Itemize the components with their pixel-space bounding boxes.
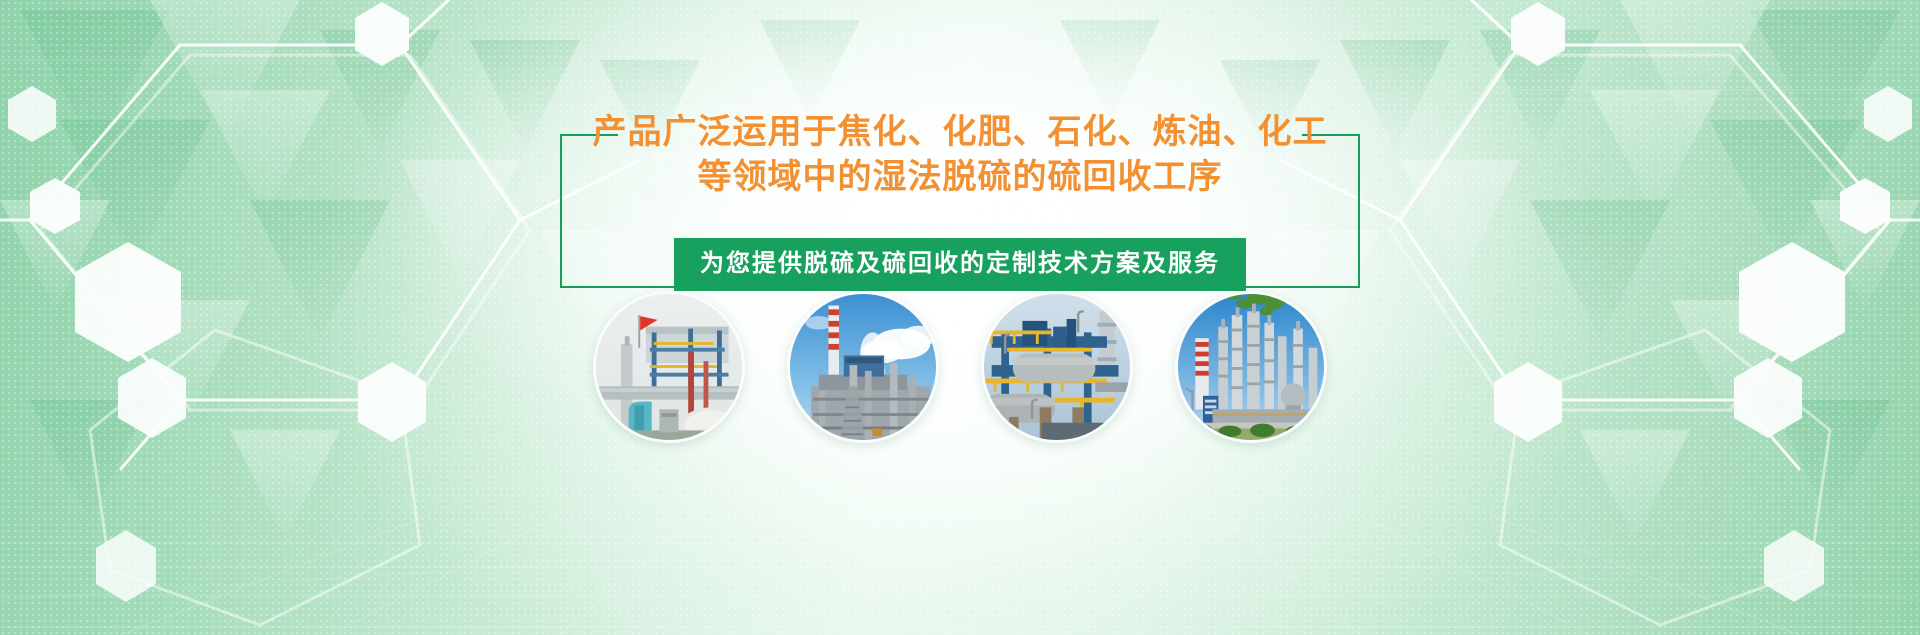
headline-line-1: 产品广泛运用于焦化、化肥、石化、炼油、化工 bbox=[560, 110, 1360, 155]
subtitle-banner: 为您提供脱硫及硫回收的定制技术方案及服务 bbox=[674, 238, 1246, 291]
photo-circle-row bbox=[0, 291, 1920, 443]
photo-sulfur-recovery-plant[interactable] bbox=[593, 291, 745, 443]
photo-distillation-columns[interactable] bbox=[1175, 291, 1327, 443]
photo-refinery-stack[interactable] bbox=[787, 291, 939, 443]
banner-content: 产品广泛运用于焦化、化肥、石化、炼油、化工 等领域中的湿法脱硫的硫回收工序 为您… bbox=[0, 0, 1920, 635]
photo-desulfurization-vessels[interactable] bbox=[981, 291, 1133, 443]
hero-banner: 产品广泛运用于焦化、化肥、石化、炼油、化工 等领域中的湿法脱硫的硫回收工序 为您… bbox=[0, 0, 1920, 635]
headline: 产品广泛运用于焦化、化肥、石化、炼油、化工 等领域中的湿法脱硫的硫回收工序 bbox=[560, 110, 1360, 200]
headline-line-2: 等领域中的湿法脱硫的硫回收工序 bbox=[560, 155, 1360, 200]
bracket-bottom-left-arm bbox=[560, 286, 692, 288]
bracket-bottom-right-arm bbox=[1228, 286, 1360, 288]
hero-text-block: 产品广泛运用于焦化、化肥、石化、炼油、化工 等领域中的湿法脱硫的硫回收工序 为您… bbox=[560, 110, 1360, 288]
